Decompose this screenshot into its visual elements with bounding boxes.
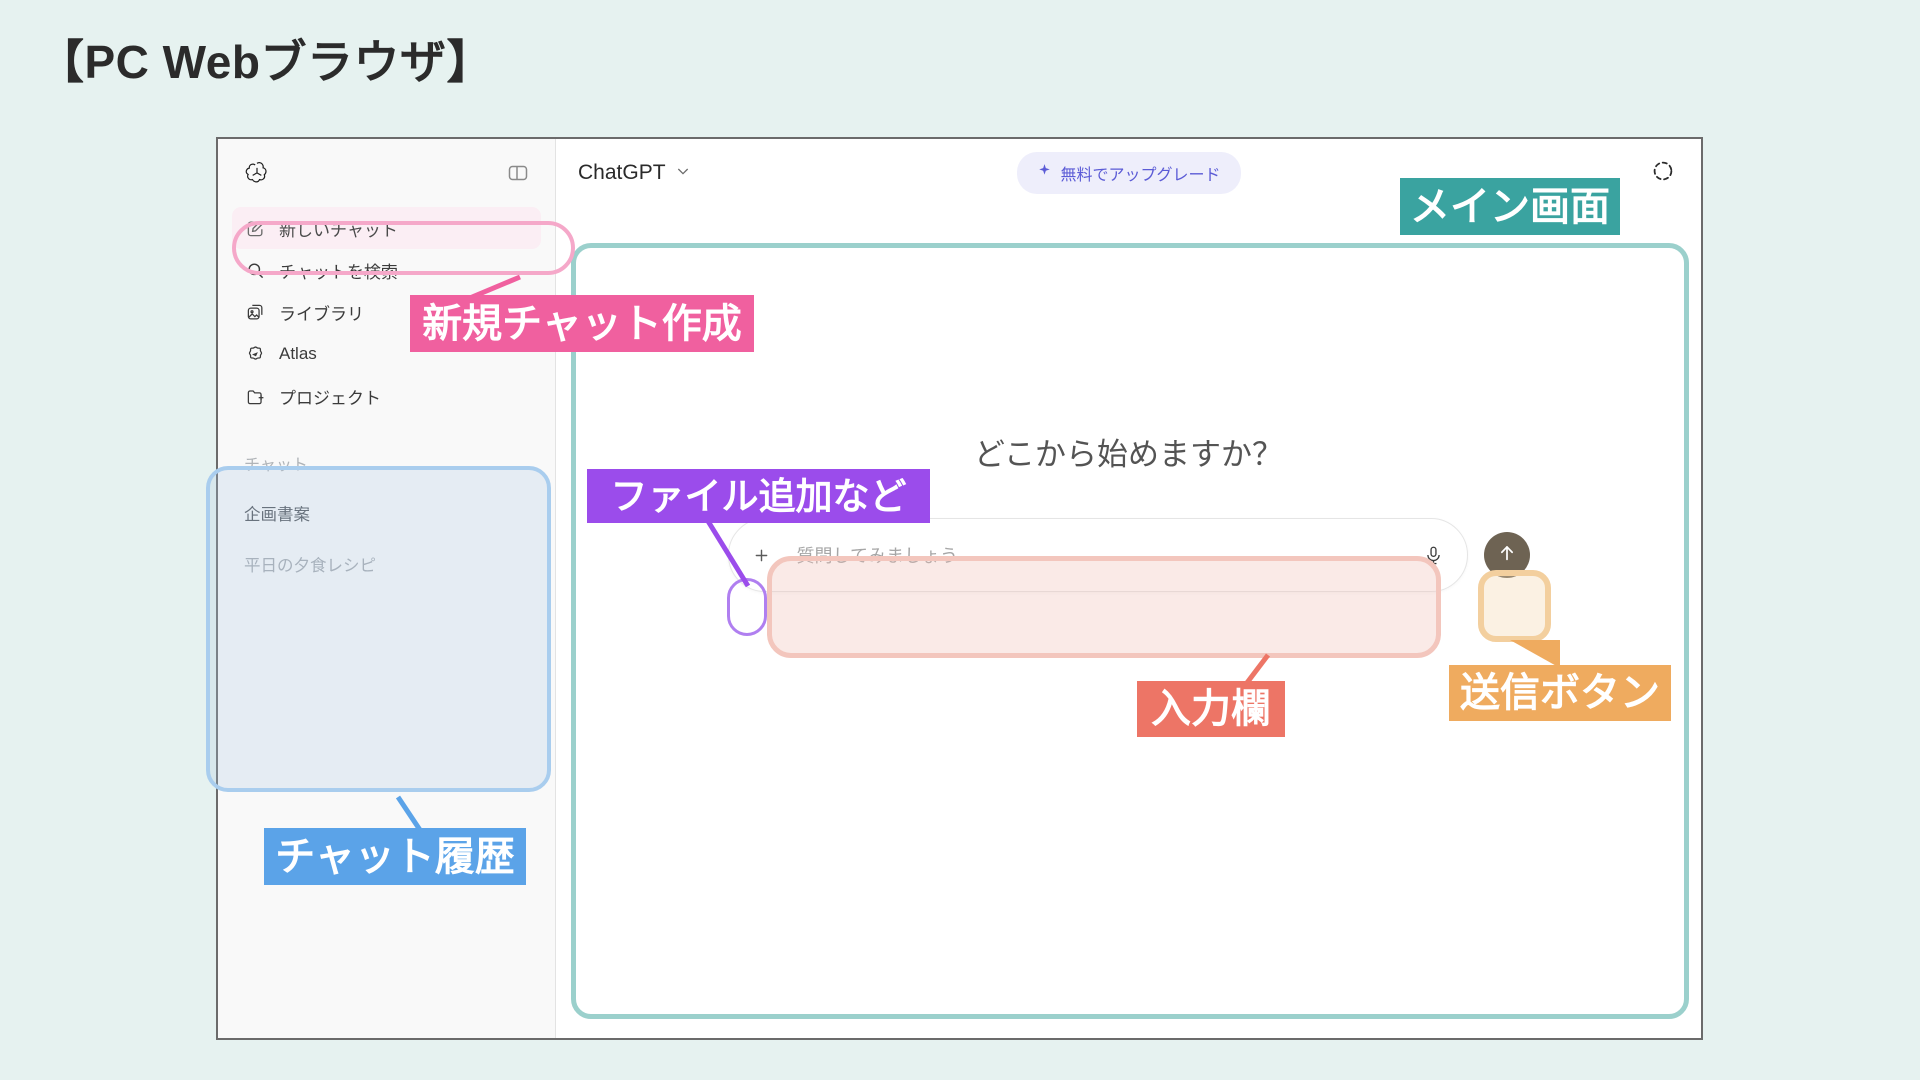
- model-name-label: ChatGPT: [578, 161, 666, 185]
- sidebar-item-label: プロジェクト: [279, 384, 381, 409]
- annotation-label-file-add: ファイル追加など: [587, 469, 930, 523]
- sidebar-item-label: ライブラリ: [279, 300, 364, 325]
- chevron-down-icon: [675, 161, 691, 185]
- folder-plus-icon: [244, 385, 266, 407]
- browser-window: 新しいチャット チャットを検索: [216, 137, 1703, 1040]
- microphone-icon[interactable]: [1419, 540, 1449, 570]
- annotation-label-new-chat: 新規チャット作成: [410, 295, 754, 352]
- upgrade-button-label: 無料でアップグレード: [1060, 161, 1220, 185]
- annotation-label-main-screen: メイン画面: [1400, 178, 1620, 235]
- annotation-label-send-button: 送信ボタン: [1449, 665, 1671, 721]
- model-selector[interactable]: ChatGPT: [578, 161, 691, 185]
- annotation-label-chat-history: チャット履歴: [264, 828, 526, 885]
- chat-history-item[interactable]: 企画書案: [244, 501, 529, 525]
- topbar-right: [1651, 159, 1675, 188]
- sparkle-icon: [1036, 163, 1051, 183]
- sidebar-item-label: 新しいチャット: [279, 216, 398, 241]
- greeting-heading: どこから始めますか？: [974, 429, 1283, 474]
- sidebar: 新しいチャット チャットを検索: [218, 139, 556, 1038]
- sidebar-item-new-chat[interactable]: 新しいチャット: [232, 207, 541, 249]
- chat-history-section: チャット 企画書案 平日の夕食レシピ: [218, 451, 555, 576]
- main-content-area: ChatGPT 無料でアップグレード: [556, 139, 1701, 1038]
- sidebar-item-label: チャットを検索: [279, 258, 398, 283]
- dashed-circle-icon[interactable]: [1651, 159, 1675, 188]
- send-button[interactable]: [1484, 532, 1530, 578]
- compass-icon: [244, 343, 266, 365]
- add-attachment-button[interactable]: [745, 538, 779, 572]
- sidebar-item-projects[interactable]: プロジェクト: [232, 375, 541, 417]
- search-icon: [244, 259, 266, 281]
- sidebar-header: [218, 139, 555, 207]
- pencil-square-icon: [244, 217, 266, 239]
- composer-row: 質問してみましょう: [728, 518, 1530, 592]
- prompt-composer[interactable]: 質問してみましょう: [728, 518, 1468, 592]
- openai-logo-icon[interactable]: [242, 158, 272, 188]
- annotation-label-input-field: 入力欄: [1137, 681, 1285, 737]
- sidebar-item-label: Atlas: [279, 344, 317, 364]
- sidebar-toggle-icon[interactable]: [503, 158, 533, 188]
- sidebar-item-search-chats[interactable]: チャットを検索: [232, 249, 541, 291]
- prompt-input[interactable]: 質問してみましょう: [779, 542, 1419, 568]
- arrow-up-icon: [1496, 542, 1518, 569]
- upgrade-button[interactable]: 無料でアップグレード: [1016, 152, 1240, 194]
- page-title: 【PC Webブラウザ】: [38, 26, 493, 92]
- chat-history-item[interactable]: 平日の夕食レシピ: [244, 552, 529, 576]
- chat-history-heading: チャット: [244, 451, 529, 475]
- image-stack-icon: [244, 301, 266, 323]
